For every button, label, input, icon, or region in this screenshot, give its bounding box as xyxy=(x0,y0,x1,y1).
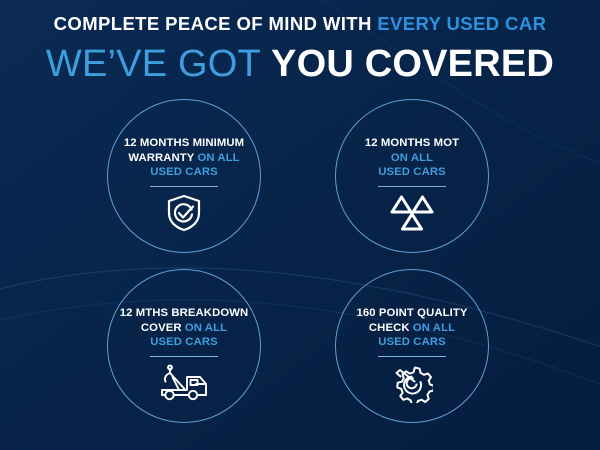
feature-mot[interactable]: 12 MONTHS MOT ON ALL USED CARS xyxy=(335,99,489,253)
feature-text-white: 12 MTHS BREAKDOWN xyxy=(120,307,248,319)
feature-text-accent: ON ALL xyxy=(391,152,433,164)
feature-quality-check[interactable]: 160 POINT QUALITY CHECK ON ALL USED CARS xyxy=(335,269,489,423)
feature-line: USED CARS xyxy=(109,165,259,180)
feature-text-accent: ON ALL xyxy=(185,322,227,334)
feature-text-accent: USED CARS xyxy=(150,336,217,348)
feature-text-white: 12 MONTHS MINIMUM xyxy=(124,137,244,149)
feature-text-accent: USED CARS xyxy=(150,166,217,178)
feature-line: CHECK ON ALL xyxy=(337,321,487,336)
headline-line-2-white: YOU COVERED xyxy=(271,43,554,85)
headline-line-2: WE’VE GOT YOU COVERED xyxy=(0,42,600,86)
feature-breakdown-cover[interactable]: 12 MTHS BREAKDOWN COVER ON ALL USED CARS xyxy=(107,269,261,423)
headline-line-1: COMPLETE PEACE OF MIND WITH EVERY USED C… xyxy=(0,12,600,36)
headline-line-1-white: COMPLETE PEACE OF MIND WITH xyxy=(54,13,378,34)
feature-text-white: 12 MONTHS MOT xyxy=(365,137,459,149)
feature-text-white: CHECK xyxy=(369,322,413,334)
feature-line: 12 MONTHS MOT xyxy=(337,136,487,151)
feature-minimum-warranty[interactable]: 12 MONTHS MINIMUM WARRANTY ON ALL USED C… xyxy=(107,99,261,253)
feature-line: USED CARS xyxy=(337,335,487,350)
feature-text: 12 MONTHS MOT ON ALL USED CARS xyxy=(337,136,487,180)
feature-line: WARRANTY ON ALL xyxy=(109,151,259,166)
mot-triangles-icon xyxy=(386,192,438,234)
feature-divider xyxy=(150,186,218,187)
feature-text-white: WARRANTY xyxy=(128,152,197,164)
shield-check-icon xyxy=(158,192,210,234)
feature-line: 160 POINT QUALITY xyxy=(337,306,487,321)
feature-divider xyxy=(378,356,446,357)
feature-grid: 12 MONTHS MINIMUM WARRANTY ON ALL USED C… xyxy=(0,98,600,448)
feature-text-accent: USED CARS xyxy=(378,166,445,178)
headline-line-2-accent: WE’VE GOT xyxy=(46,43,271,85)
feature-line: COVER ON ALL xyxy=(109,321,259,336)
feature-text: 12 MONTHS MINIMUM WARRANTY ON ALL USED C… xyxy=(109,136,259,180)
feature-line: ON ALL xyxy=(337,151,487,166)
feature-text-accent: ON ALL xyxy=(197,152,239,164)
feature-line: 12 MONTHS MINIMUM xyxy=(109,136,259,151)
gear-wrench-icon xyxy=(386,362,438,404)
feature-divider xyxy=(378,186,446,187)
feature-line: 12 MTHS BREAKDOWN xyxy=(109,306,259,321)
feature-line: USED CARS xyxy=(337,165,487,180)
feature-line: USED CARS xyxy=(109,335,259,350)
feature-text-accent: ON ALL xyxy=(413,322,455,334)
feature-text-accent: USED CARS xyxy=(378,336,445,348)
feature-text-white: COVER xyxy=(141,322,185,334)
feature-divider xyxy=(150,356,218,357)
feature-text: 160 POINT QUALITY CHECK ON ALL USED CARS xyxy=(337,306,487,350)
feature-text: 12 MTHS BREAKDOWN COVER ON ALL USED CARS xyxy=(109,306,259,350)
feature-text-white: 160 POINT QUALITY xyxy=(357,307,468,319)
promo-banner: COMPLETE PEACE OF MIND WITH EVERY USED C… xyxy=(0,0,600,450)
tow-truck-icon xyxy=(158,362,210,404)
headline-line-1-accent: EVERY USED CAR xyxy=(377,13,546,34)
headline-block: COMPLETE PEACE OF MIND WITH EVERY USED C… xyxy=(0,0,600,86)
